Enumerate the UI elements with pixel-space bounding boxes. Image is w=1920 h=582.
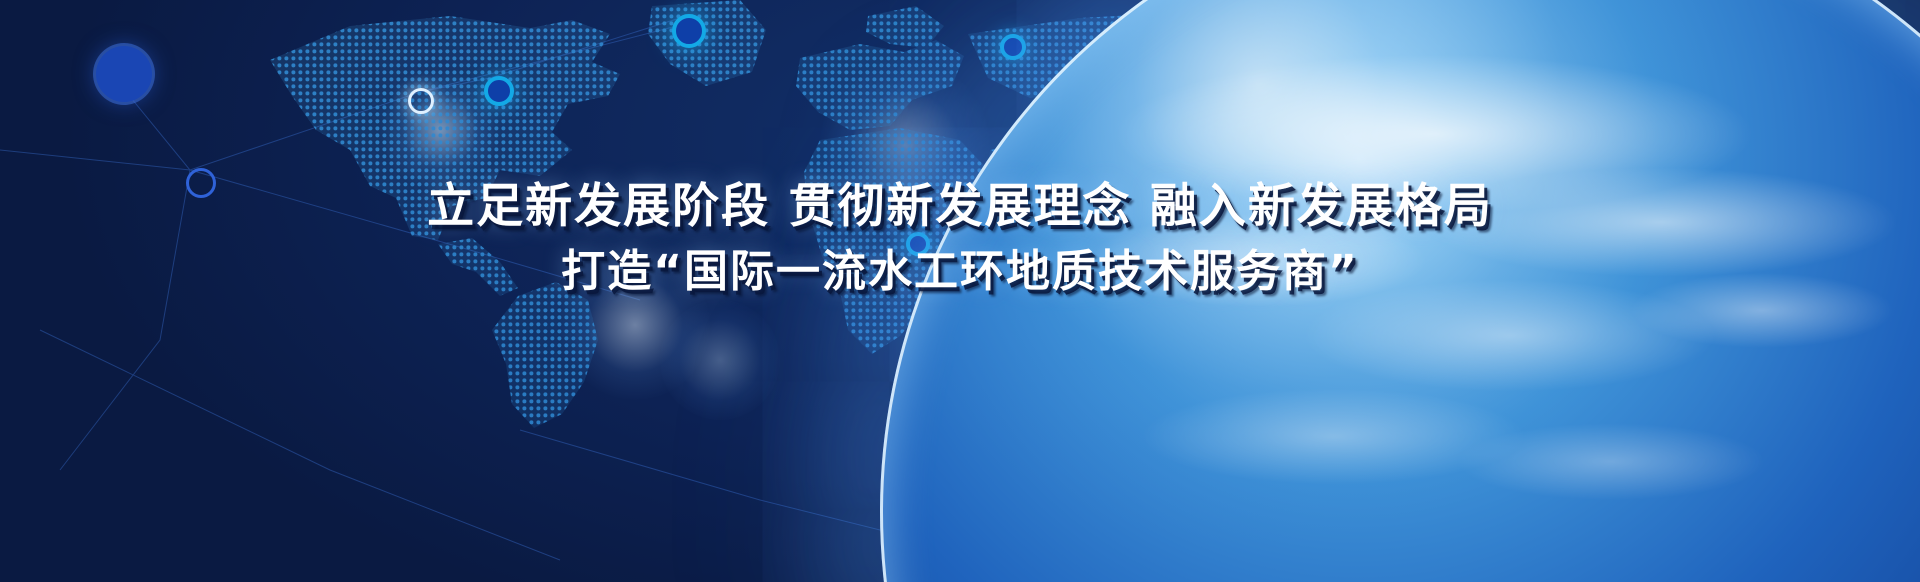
- hero-banner: 立足新发展阶段 贯彻新发展理念 融入新发展格局 打造“国际一流水工环地质技术服务…: [0, 0, 1920, 582]
- headline-line-2: 打造“国际一流水工环地质技术服务商”: [0, 250, 1920, 294]
- headline-block: 立足新发展阶段 贯彻新发展理念 融入新发展格局 打造“国际一流水工环地质技术服务…: [0, 183, 1920, 294]
- marker-north-america: [484, 76, 514, 106]
- marker-north-pacific: [96, 46, 152, 102]
- marker-alaska: [408, 88, 434, 114]
- marker-greenland: [672, 14, 706, 48]
- marker-europe: [1000, 34, 1026, 60]
- headline-line-1: 立足新发展阶段 贯彻新发展理念 融入新发展格局: [0, 183, 1920, 230]
